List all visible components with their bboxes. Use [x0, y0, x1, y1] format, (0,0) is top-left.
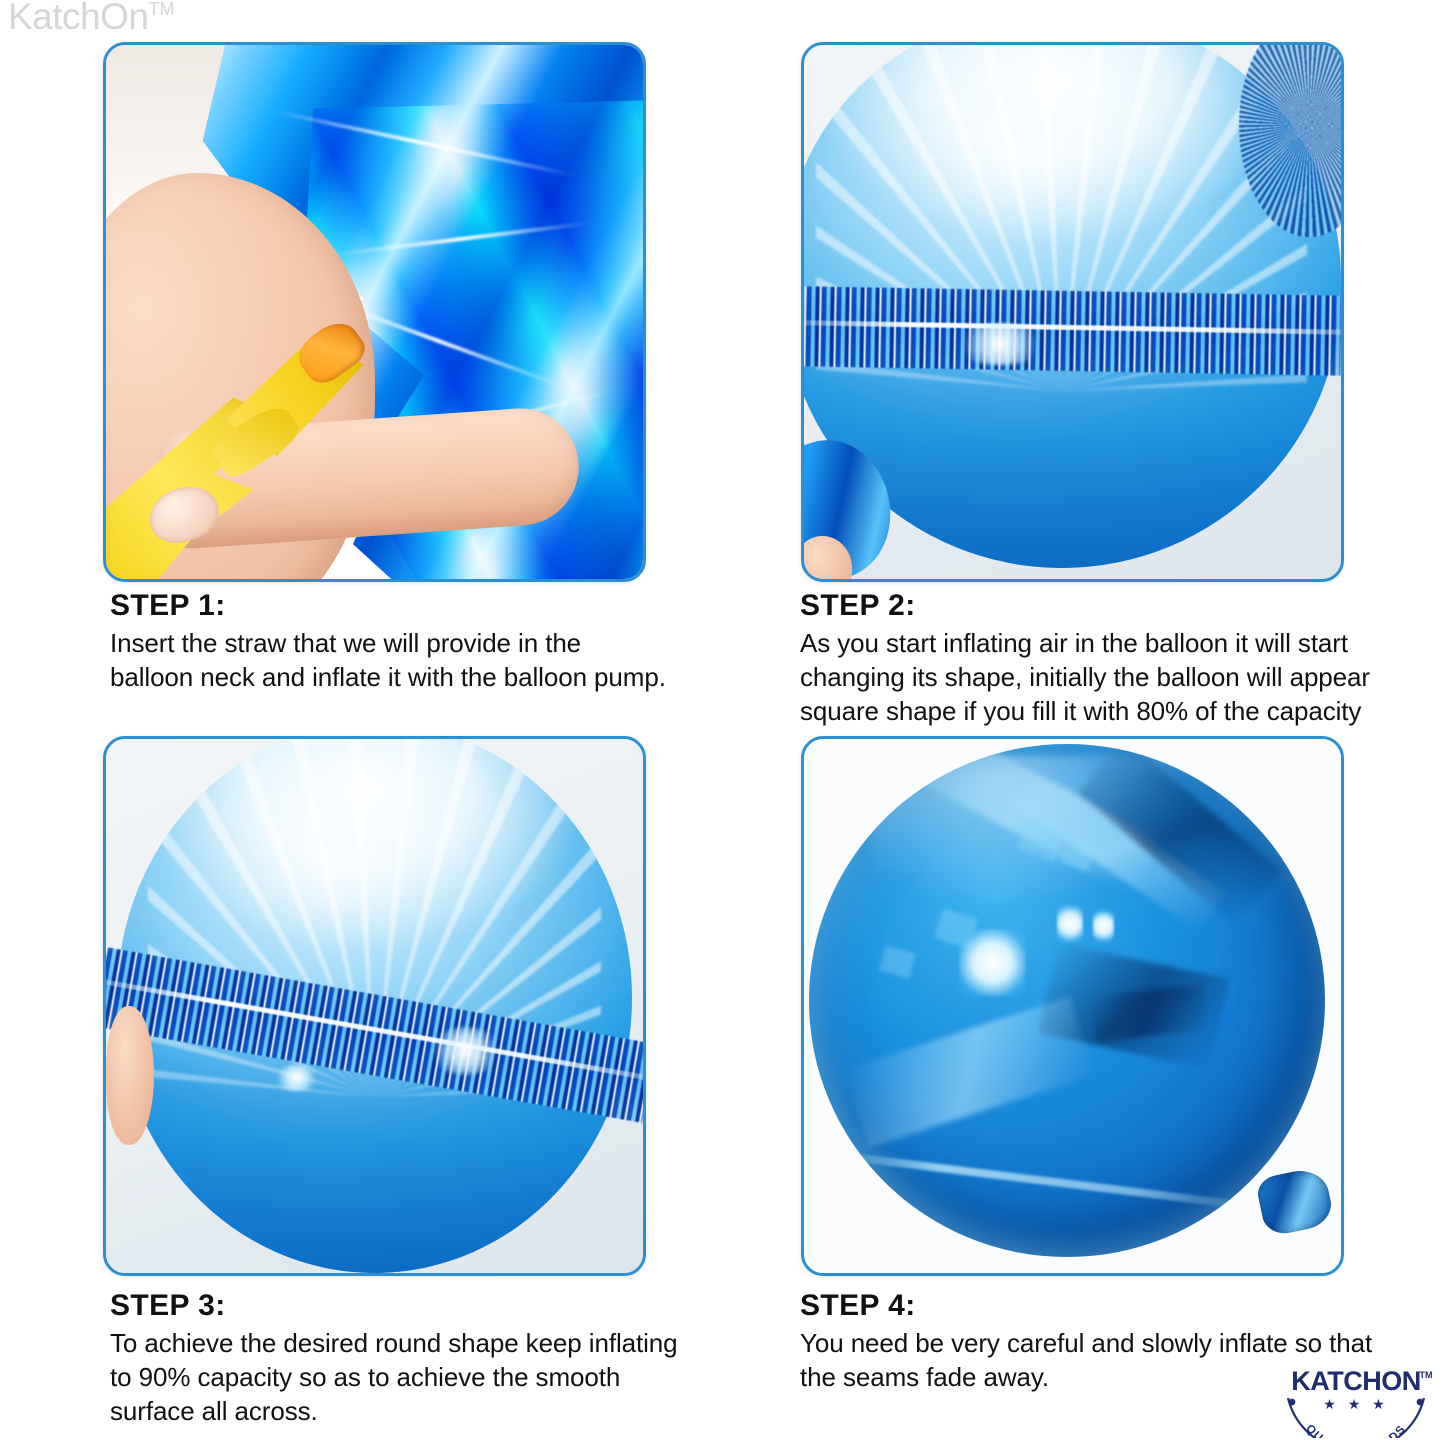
step-3-title: STEP 3:: [110, 1288, 750, 1323]
specular-highlight: [954, 323, 1045, 366]
step-3-line: to 90% capacity so as to achieve the smo…: [110, 1361, 750, 1395]
step-1-caption: STEP 1: Insert the straw that we will pr…: [110, 588, 750, 695]
balloon-tab: [1255, 1165, 1335, 1237]
step-2-body: As you start inflating air in the balloo…: [800, 627, 1445, 728]
step-2-line: changing its shape, initially the balloo…: [800, 661, 1445, 695]
step-4-image-panel: [801, 736, 1344, 1276]
step-3-photo: [106, 739, 643, 1273]
step-3-image-panel: [103, 736, 646, 1276]
step-1-title: STEP 1:: [110, 588, 750, 623]
step-3-caption: STEP 3: To achieve the desired round sha…: [110, 1288, 750, 1429]
step-3-line: To achieve the desired round shape keep …: [110, 1327, 750, 1361]
logo-wordmark: KATCHON: [1291, 1366, 1420, 1396]
logo-stars: ★ ★ ★: [1323, 1396, 1388, 1412]
fully-inflated-mirror-balloon: [809, 744, 1325, 1257]
step-3-body: To achieve the desired round shape keep …: [110, 1327, 750, 1428]
logo-tm-symbol: TM: [1420, 1370, 1433, 1380]
katchon-watermark: KatchOnTM: [8, 0, 174, 37]
step-2-line: As you start inflating air in the balloo…: [800, 627, 1445, 661]
fingers-holding-balloon: [106, 1006, 154, 1145]
watermark-brand-text: KatchOn: [8, 0, 148, 37]
step-4-line: You need be very careful and slowly infl…: [800, 1327, 1420, 1361]
step-4-photo: [804, 739, 1341, 1273]
step-1-photo: [106, 45, 643, 579]
step-2-line: square shape if you fill it with 80% of …: [800, 695, 1445, 729]
specular-highlight: [272, 1065, 320, 1092]
step-2-caption: STEP 2: As you start inflating air in th…: [800, 588, 1445, 729]
step-3-line: surface all across.: [110, 1395, 750, 1429]
katchon-logo: KATCHON TM ★ ★ ★ QUALITY GOODS: [1276, 1364, 1436, 1438]
watermark-tm-symbol: TM: [148, 0, 174, 19]
katchon-logo-svg: KATCHON TM ★ ★ ★ QUALITY GOODS: [1276, 1364, 1436, 1438]
balloon-rim-light: [809, 744, 1325, 1257]
step-1-line: Insert the straw that we will provide in…: [110, 627, 750, 661]
step-1-line: balloon neck and inflate it with the bal…: [110, 661, 750, 695]
logo-dot-left: [1289, 1399, 1296, 1406]
step-4-title: STEP 4:: [800, 1288, 1420, 1323]
step-2-photo: [804, 45, 1341, 579]
step-1-image-panel: [103, 42, 646, 582]
step-2-title: STEP 2:: [800, 588, 1445, 623]
logo-tagline: QUALITY GOODS: [1303, 1423, 1408, 1438]
step-1-body: Insert the straw that we will provide in…: [110, 627, 750, 695]
logo-dot-right: [1417, 1399, 1424, 1406]
step-2-image-panel: [801, 42, 1344, 582]
